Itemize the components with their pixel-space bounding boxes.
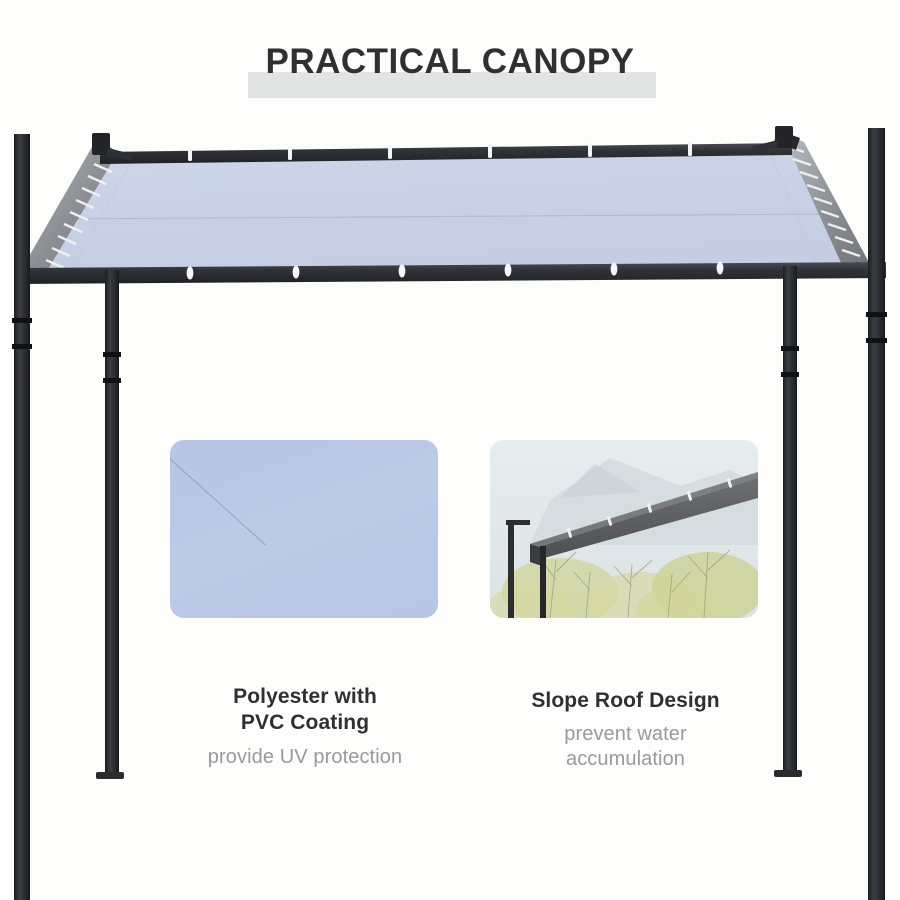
caption-slope-subline: prevent water accumulation [488, 722, 763, 772]
feature-image-slope-roof [490, 440, 758, 618]
caption-slope-subline-line2: accumulation [566, 748, 685, 770]
product-feature-image: PRACTICAL CANOPY [0, 0, 900, 900]
caption-fabric-headline-line1: Polyester with [233, 685, 377, 708]
feature-image-fabric [170, 440, 438, 618]
caption-fabric-headline: Polyester with PVC Coating [150, 684, 460, 737]
caption-fabric-subline: provide UV protection [150, 745, 460, 770]
caption-slope: Slope Roof Design prevent water accumula… [488, 688, 763, 772]
caption-fabric: Polyester with PVC Coating provide UV pr… [150, 684, 460, 770]
caption-slope-subline-line1: prevent water [564, 723, 686, 745]
rear-right-post [866, 128, 887, 900]
canopy-fabric [40, 150, 845, 277]
fabric-seam-line [170, 444, 266, 545]
slope-roof-photo [490, 440, 758, 618]
front-left-post [96, 270, 124, 779]
rear-left-post [12, 134, 32, 900]
caption-slope-headline: Slope Roof Design [488, 688, 763, 714]
front-right-post [774, 266, 802, 777]
caption-fabric-headline-line2: PVC Coating [241, 711, 369, 734]
